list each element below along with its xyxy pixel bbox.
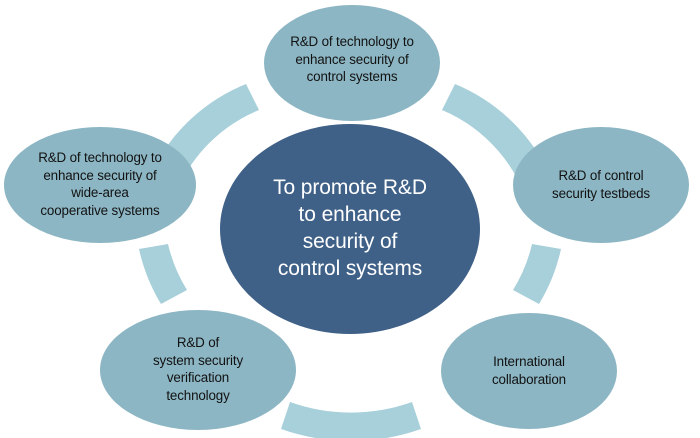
diagram-canvas: [0, 0, 700, 438]
node-rd-system-security-verification[interactable]: [100, 310, 296, 430]
connector-arc-bottom-left-to-left: [139, 244, 187, 304]
connector-arc-bottom-left-to-bottom-right: [281, 402, 421, 438]
cycle-diagram: R&D of technology to enhance security of…: [0, 0, 700, 438]
node-rd-technology-wide-area[interactable]: [4, 127, 196, 243]
node-international-collaboration[interactable]: [441, 313, 617, 429]
center-hub[interactable]: [220, 124, 480, 334]
connector-arc-right-to-bottom-right: [513, 244, 561, 304]
node-rd-control-security-testbeds[interactable]: [513, 127, 689, 243]
node-rd-technology-control-systems[interactable]: [264, 5, 440, 121]
